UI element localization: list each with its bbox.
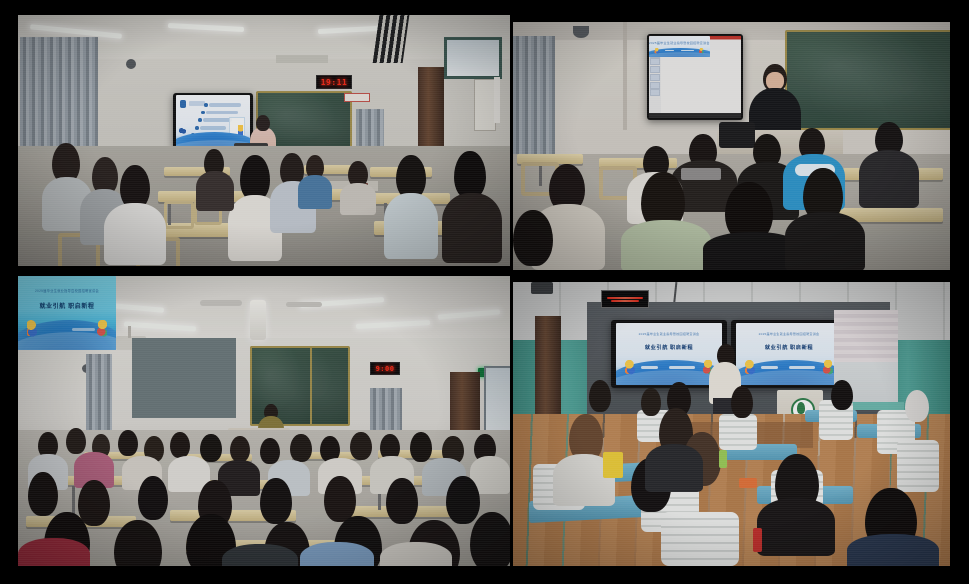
student-head [454,151,486,199]
slatted-chair [719,414,757,450]
slatted-chair [661,512,739,566]
projector-mount [128,326,131,338]
digital-clock: 9:00 [370,362,400,375]
student-head [324,476,356,522]
slide-bullet-dot [201,111,205,115]
photo-panel-bottom-left: 9:00 2025届毕业生就业指导暨校园招聘宣讲会 就业引航 职启新程 [18,276,510,566]
board-banner [344,93,370,102]
wall-poster [474,79,496,131]
slide-illustration-left [654,48,660,53]
interactive-flat-panel[interactable]: 2025届毕业生就业指导暨校园招聘宣讲会 就业引航 职启新程 [647,34,743,120]
student-body [18,538,90,566]
led-scrolling-sign [601,290,649,308]
presenter-head [256,115,270,131]
clock-text: 9:00 [376,365,395,373]
student-body [645,444,703,492]
slide-illustration-left [745,360,756,376]
ac-vent [276,55,328,63]
powerpoint-statusbar[interactable] [649,113,741,118]
slide-chip-right [789,366,815,369]
slide-bullet-dot [198,118,202,122]
student-head [641,388,661,416]
slide-title: 就业引航 职启新程 [765,344,813,351]
student-head [28,472,58,516]
slide-butterfly [179,127,186,135]
student-head [138,476,168,520]
slide-bullet-dot [195,126,199,130]
student-head [350,432,372,460]
student-head [386,478,418,524]
wall-pipe [623,22,627,130]
powerpoint-slide-thumbnails[interactable] [649,50,661,113]
student-body [442,193,502,263]
desk-leg [72,486,75,514]
slide-illustration-left [27,320,37,339]
slide-illustration-left [625,360,636,376]
slide-bullet-row [206,111,238,115]
slide-title: 就业引航 职启新程 [645,344,693,351]
wall-notice [494,77,500,123]
student-head [410,432,432,462]
scene-bottom-right: 2025届毕业生就业指导暨校园招聘宣讲会 就业引航 职启新程 2025届毕业生就… [513,282,950,566]
slide-chip-right [669,366,695,369]
slide-bullet-row [200,126,227,130]
shirt-graphic [681,168,721,180]
window-curtain [86,354,112,434]
door [535,316,561,420]
student-body [104,203,166,265]
slatted-chair [897,440,939,492]
student-head [260,478,292,524]
slide-subtitle: 2025届毕业生就业指导暨校园招聘宣讲会 [649,41,710,45]
slide-subtitle: 2025届毕业生就业指导暨校园招聘宣讲会 [35,288,99,293]
student-body [340,183,376,215]
ceiling-fan [200,300,242,306]
desk-item-bottle [753,528,762,552]
student-body [380,542,452,566]
interactive-flat-panel[interactable] [173,93,253,149]
slide-bullet-row [209,103,241,107]
pendant-light [250,300,266,340]
slide-surface: 2025届毕业生就业指导暨校园招聘宣讲会 就业引航 职启新程 [649,36,710,57]
interactive-flat-panel-right[interactable]: 2025届毕业生就业指导暨校园招聘宣讲会 就业引航 职启新程 [731,320,847,388]
student-head [260,438,280,464]
student-body [621,220,711,270]
security-camera [573,26,589,38]
slide-chip-left [641,366,658,369]
student-body [757,498,835,556]
slide-illustration-right [698,48,704,53]
slide-illustration-right [97,320,107,339]
student-body [785,212,865,270]
student-head [446,476,480,524]
student-body [298,175,332,209]
slide-bullet-dot [204,103,208,107]
clock-text: 19:11 [321,78,348,87]
photo-collage: 19:11 [0,0,969,584]
slide-chip-right [72,328,96,331]
slide-surface: 2025届毕业生就业指导暨校园招聘宣讲会 就业引航 职启新程 [736,323,843,386]
student-body [196,171,234,211]
window [444,37,502,79]
chair [164,201,194,229]
scene-top-right: 2025届毕业生就业指导暨校园招聘宣讲会 就业引航 职启新程 [513,22,950,270]
projection-screen-frame [132,338,236,418]
student-head [200,434,222,462]
scene-bottom-left: 9:00 2025届毕业生就业指导暨校园招聘宣讲会 就业引航 职启新程 [18,276,510,566]
student-head [290,434,312,462]
student-head [170,432,190,458]
desk-item-box [739,478,757,488]
student-head [589,380,611,412]
slide-subtitle: 2025届毕业生就业指导暨校园招聘宣讲会 [759,332,820,336]
security-camera [126,59,136,69]
student-body [384,193,438,259]
window-blind [834,310,898,362]
photo-panel-top-right: 2025届毕业生就业指导暨校园招聘宣讲会 就业引航 职启新程 [513,22,950,270]
student-head [470,512,510,566]
window-curtain [513,36,555,162]
desk-item-bag [603,452,623,478]
slide-logo [180,100,187,107]
student-body [300,542,374,566]
slide-surface: 2025届毕业生就业指导暨校园招聘宣讲会 就业引航 职启新程 [616,323,723,386]
slide-surface: 2025届毕业生就业指导暨校园招聘宣讲会 就业引航 职启新程 [18,276,116,350]
scene-top-left: 19:11 [18,15,510,266]
slide-chip-left [761,366,778,369]
photo-panel-bottom-right: 2025届毕业生就业指导暨校园招聘宣讲会 就业引航 职启新程 2025届毕业生就… [513,282,950,566]
desk-item-bottle [719,450,727,468]
student-head [731,386,753,418]
student-head [513,210,553,266]
student-head [78,480,110,526]
student-head [118,430,138,456]
blackboard [785,30,950,130]
window-curtain [20,37,98,153]
student-head [831,380,853,410]
slide-title: 就业引航 职启新程 [39,301,94,310]
ceiling-fan [286,302,322,307]
student-head [66,428,86,454]
student-body [859,150,919,208]
photo-panel-top-left: 19:11 [18,15,510,266]
student-body [222,544,298,566]
blackboard [250,346,312,426]
desk-bag [719,122,755,148]
wall-speaker [531,282,553,294]
student-head [905,390,929,422]
slide-illustration-right [822,360,833,376]
lectern-emblem-inner [797,402,805,414]
slide-logo-text [189,101,205,106]
student-head [230,436,250,462]
student-body [847,534,939,566]
slide-surface [176,95,250,147]
slide-subtitle: 2025届毕业生就业指导暨校园招聘宣讲会 [639,332,700,336]
digital-clock: 19:11 [316,75,352,89]
powerpoint-window[interactable]: 2025届毕业生就业指导暨校园招聘宣讲会 就业引航 职启新程 [649,36,741,118]
